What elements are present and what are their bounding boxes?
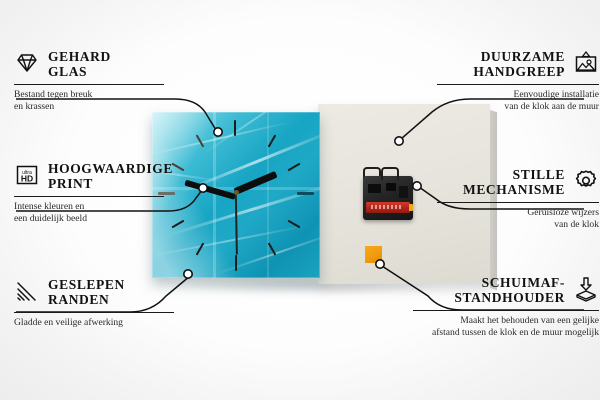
hatched-edge-icon [14, 278, 40, 304]
hour-hand [233, 171, 277, 195]
hour-marker-3 [297, 192, 314, 195]
feature-title: STILLEMECHANISME [463, 168, 565, 197]
ultra-hd-icon: ultra HD [14, 162, 40, 188]
glass-glare-vertical-2 [267, 112, 269, 278]
mechanism-hanger-loop [381, 167, 399, 180]
feature-schuimafstandhouder: SCHUIMAF-STANDHOUDER Maakt het behouden … [398, 276, 599, 338]
hour-marker-2 [287, 163, 300, 172]
feature-header: SCHUIMAF-STANDHOUDER [398, 276, 599, 305]
feature-header: DUURZAMEHANDGREEP [400, 50, 599, 79]
feature-description: Gladde en veilige afwerking [14, 317, 199, 329]
gear-icon [573, 168, 599, 194]
feature-title: HOOGWAARDIGEPRINT [48, 162, 173, 191]
diamond-icon [14, 50, 40, 76]
infographic-canvas: GEHARDGLAS Bestand tegen breuken krassen… [0, 0, 600, 400]
feature-title: DUURZAMEHANDGREEP [473, 50, 565, 79]
feature-description: Maakt het behouden van een gelijkeafstan… [398, 315, 599, 338]
feature-title: GEHARDGLAS [48, 50, 111, 79]
feature-description: Intense kleuren eneen duidelijk beeld [14, 201, 199, 224]
feature-duurzame-handgreep: DUURZAMEHANDGREEP Eenvoudige installatie… [400, 50, 599, 112]
feature-header: GESLEPENRANDEN [14, 278, 199, 307]
feature-header: STILLEMECHANISME [400, 168, 599, 197]
hour-marker-12 [234, 120, 236, 136]
picture-frame-hanger-icon [573, 50, 599, 76]
mechanism-detail-right [386, 183, 396, 191]
feature-gehard-glas: GEHARDGLAS Bestand tegen breuken krassen [14, 50, 199, 112]
feature-description: Geruisloze wijzersvan de klok [400, 207, 599, 230]
feature-description: Bestand tegen breuken krassen [14, 89, 199, 112]
second-hand [235, 193, 238, 255]
feather-streak [152, 225, 307, 257]
feature-divider [437, 84, 599, 85]
feature-header: GEHARDGLAS [14, 50, 199, 79]
hour-marker-7 [196, 242, 205, 255]
feature-divider [14, 312, 174, 313]
svg-text:HD: HD [21, 174, 33, 184]
feature-title: SCHUIMAF-STANDHOUDER [454, 276, 565, 305]
feature-geslepen-randen: GESLEPENRANDEN Gladde en veilige afwerki… [14, 278, 199, 329]
clock-center-hub [234, 190, 239, 195]
feature-hoogwaardige-print: ultra HD HOOGWAARDIGEPRINT Intense kleur… [14, 162, 199, 224]
press-down-pad-icon [573, 276, 599, 302]
feature-stille-mechanisme: STILLEMECHANISME Geruisloze wijzersvan d… [400, 168, 599, 230]
feature-title: GESLEPENRANDEN [48, 278, 125, 307]
battery-label [371, 205, 401, 209]
mechanism-detail-left [368, 184, 381, 193]
feature-divider [14, 84, 164, 85]
feature-divider [14, 196, 164, 197]
feature-divider [413, 310, 599, 311]
feature-divider [437, 202, 599, 203]
glass-glare-vertical [213, 112, 216, 278]
foam-spacer-pad [365, 246, 382, 263]
hour-marker-6 [235, 255, 237, 271]
feature-header: ultra HD HOOGWAARDIGEPRINT [14, 162, 199, 191]
feature-description: Eenvoudige installatievan de klok aan de… [400, 89, 599, 112]
